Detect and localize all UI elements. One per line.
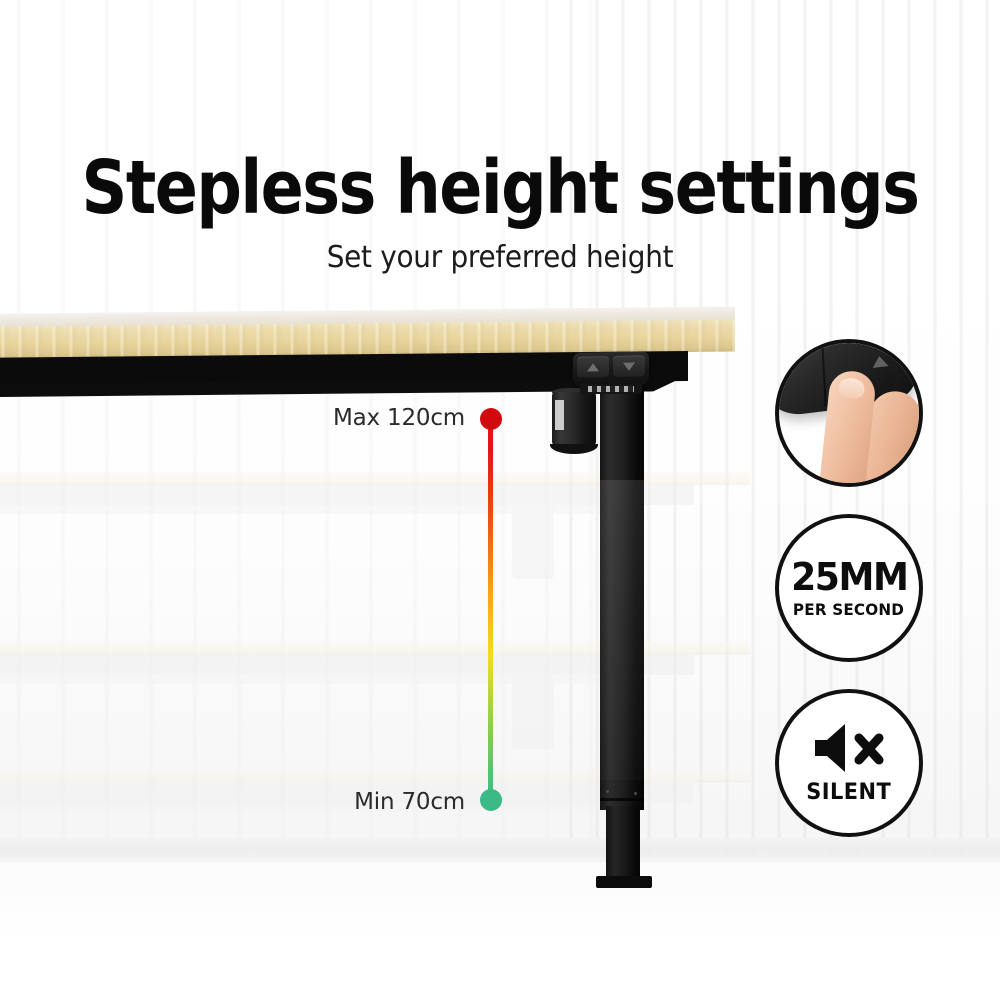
scale-min-dot [480,789,502,811]
product-feature-image: Stepless height settings Set your prefer… [0,0,1000,1000]
page-title: Stepless height settings [70,148,930,228]
scale-max-dot [480,408,502,430]
badge-silent: SILENT [775,689,923,837]
badge-speed-value: 25MM [791,557,907,597]
desk-leg-foot [596,876,652,888]
page-subtitle: Set your preferred height [35,240,965,275]
ghost-frame-lower [0,803,630,812]
fingernail [838,377,866,400]
desk-leg-lower-column [606,806,640,884]
mute-icon-wrap [807,722,891,774]
height-control-keypad[interactable] [573,351,649,387]
keypad-port-strip [588,386,634,392]
keypad-photo-seam [821,341,826,407]
badge-speed-unit: PER SECOND [793,600,904,619]
heading-block: Stepless height settings Set your prefer… [0,148,1000,275]
leg-screw [606,790,609,793]
chevron-up-icon [871,355,888,368]
ghost-frame [0,655,694,675]
ghost-frame [0,783,694,803]
chevron-down-icon [623,362,635,370]
keypad-down-button[interactable] [613,355,645,377]
ghost-motor [512,675,554,749]
badge-silent-label: SILENT [806,780,891,805]
leg-screw [634,792,637,795]
ghost-frame [0,485,694,505]
scale-max-label: Max 120cm [333,405,465,431]
height-range-scale: Max 120cm Min 70cm [486,420,495,800]
keypad-up-button[interactable] [577,356,609,378]
badge-speed: 25MM PER SECOND [775,514,923,662]
ghost-motor [512,505,554,579]
badge-one-touch-control [775,339,923,487]
chevron-up-icon [587,363,599,371]
desk-leg-seam [600,798,644,801]
lift-motor-housing [552,392,596,448]
scale-gradient-line [488,420,493,800]
muted-speaker-icon [811,722,887,774]
desk-leg-upper-column [600,370,644,810]
background-floor [0,862,1000,1000]
scale-min-label: Min 70cm [354,789,465,815]
background-floor-line [0,838,1000,864]
